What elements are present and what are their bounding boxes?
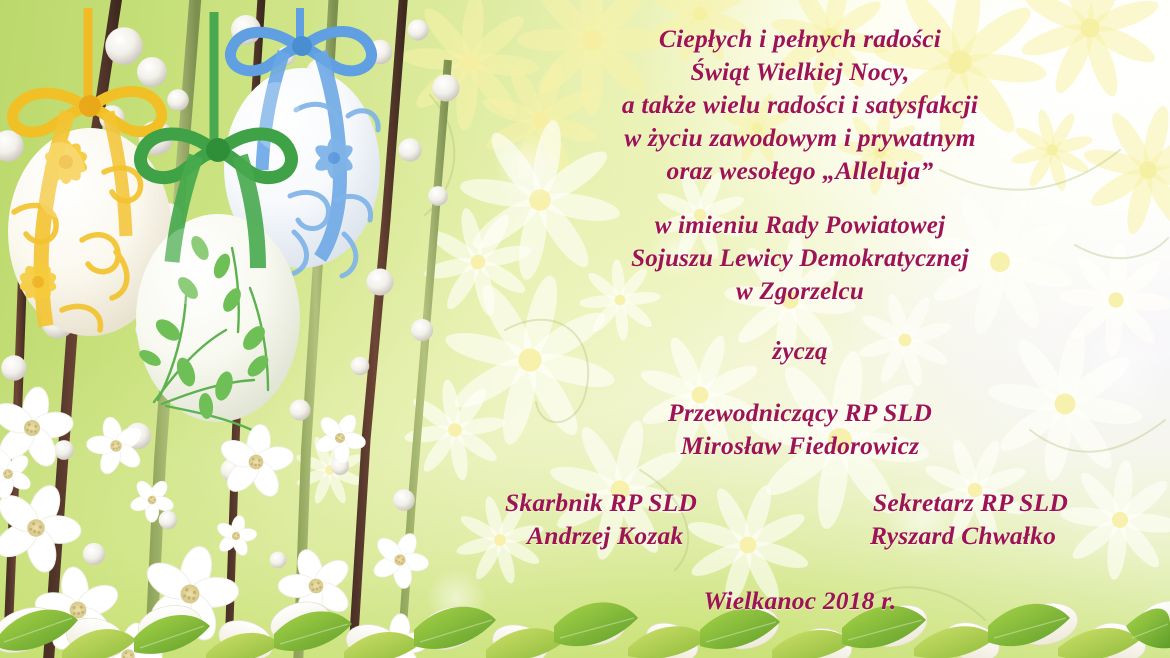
easter-greeting-card: Ciepłych i pełnych radości Świąt Wielkie…	[0, 0, 1170, 658]
bottom-leaf-border	[0, 568, 1170, 658]
easter-eggs-and-willow-artwork	[0, 0, 470, 658]
